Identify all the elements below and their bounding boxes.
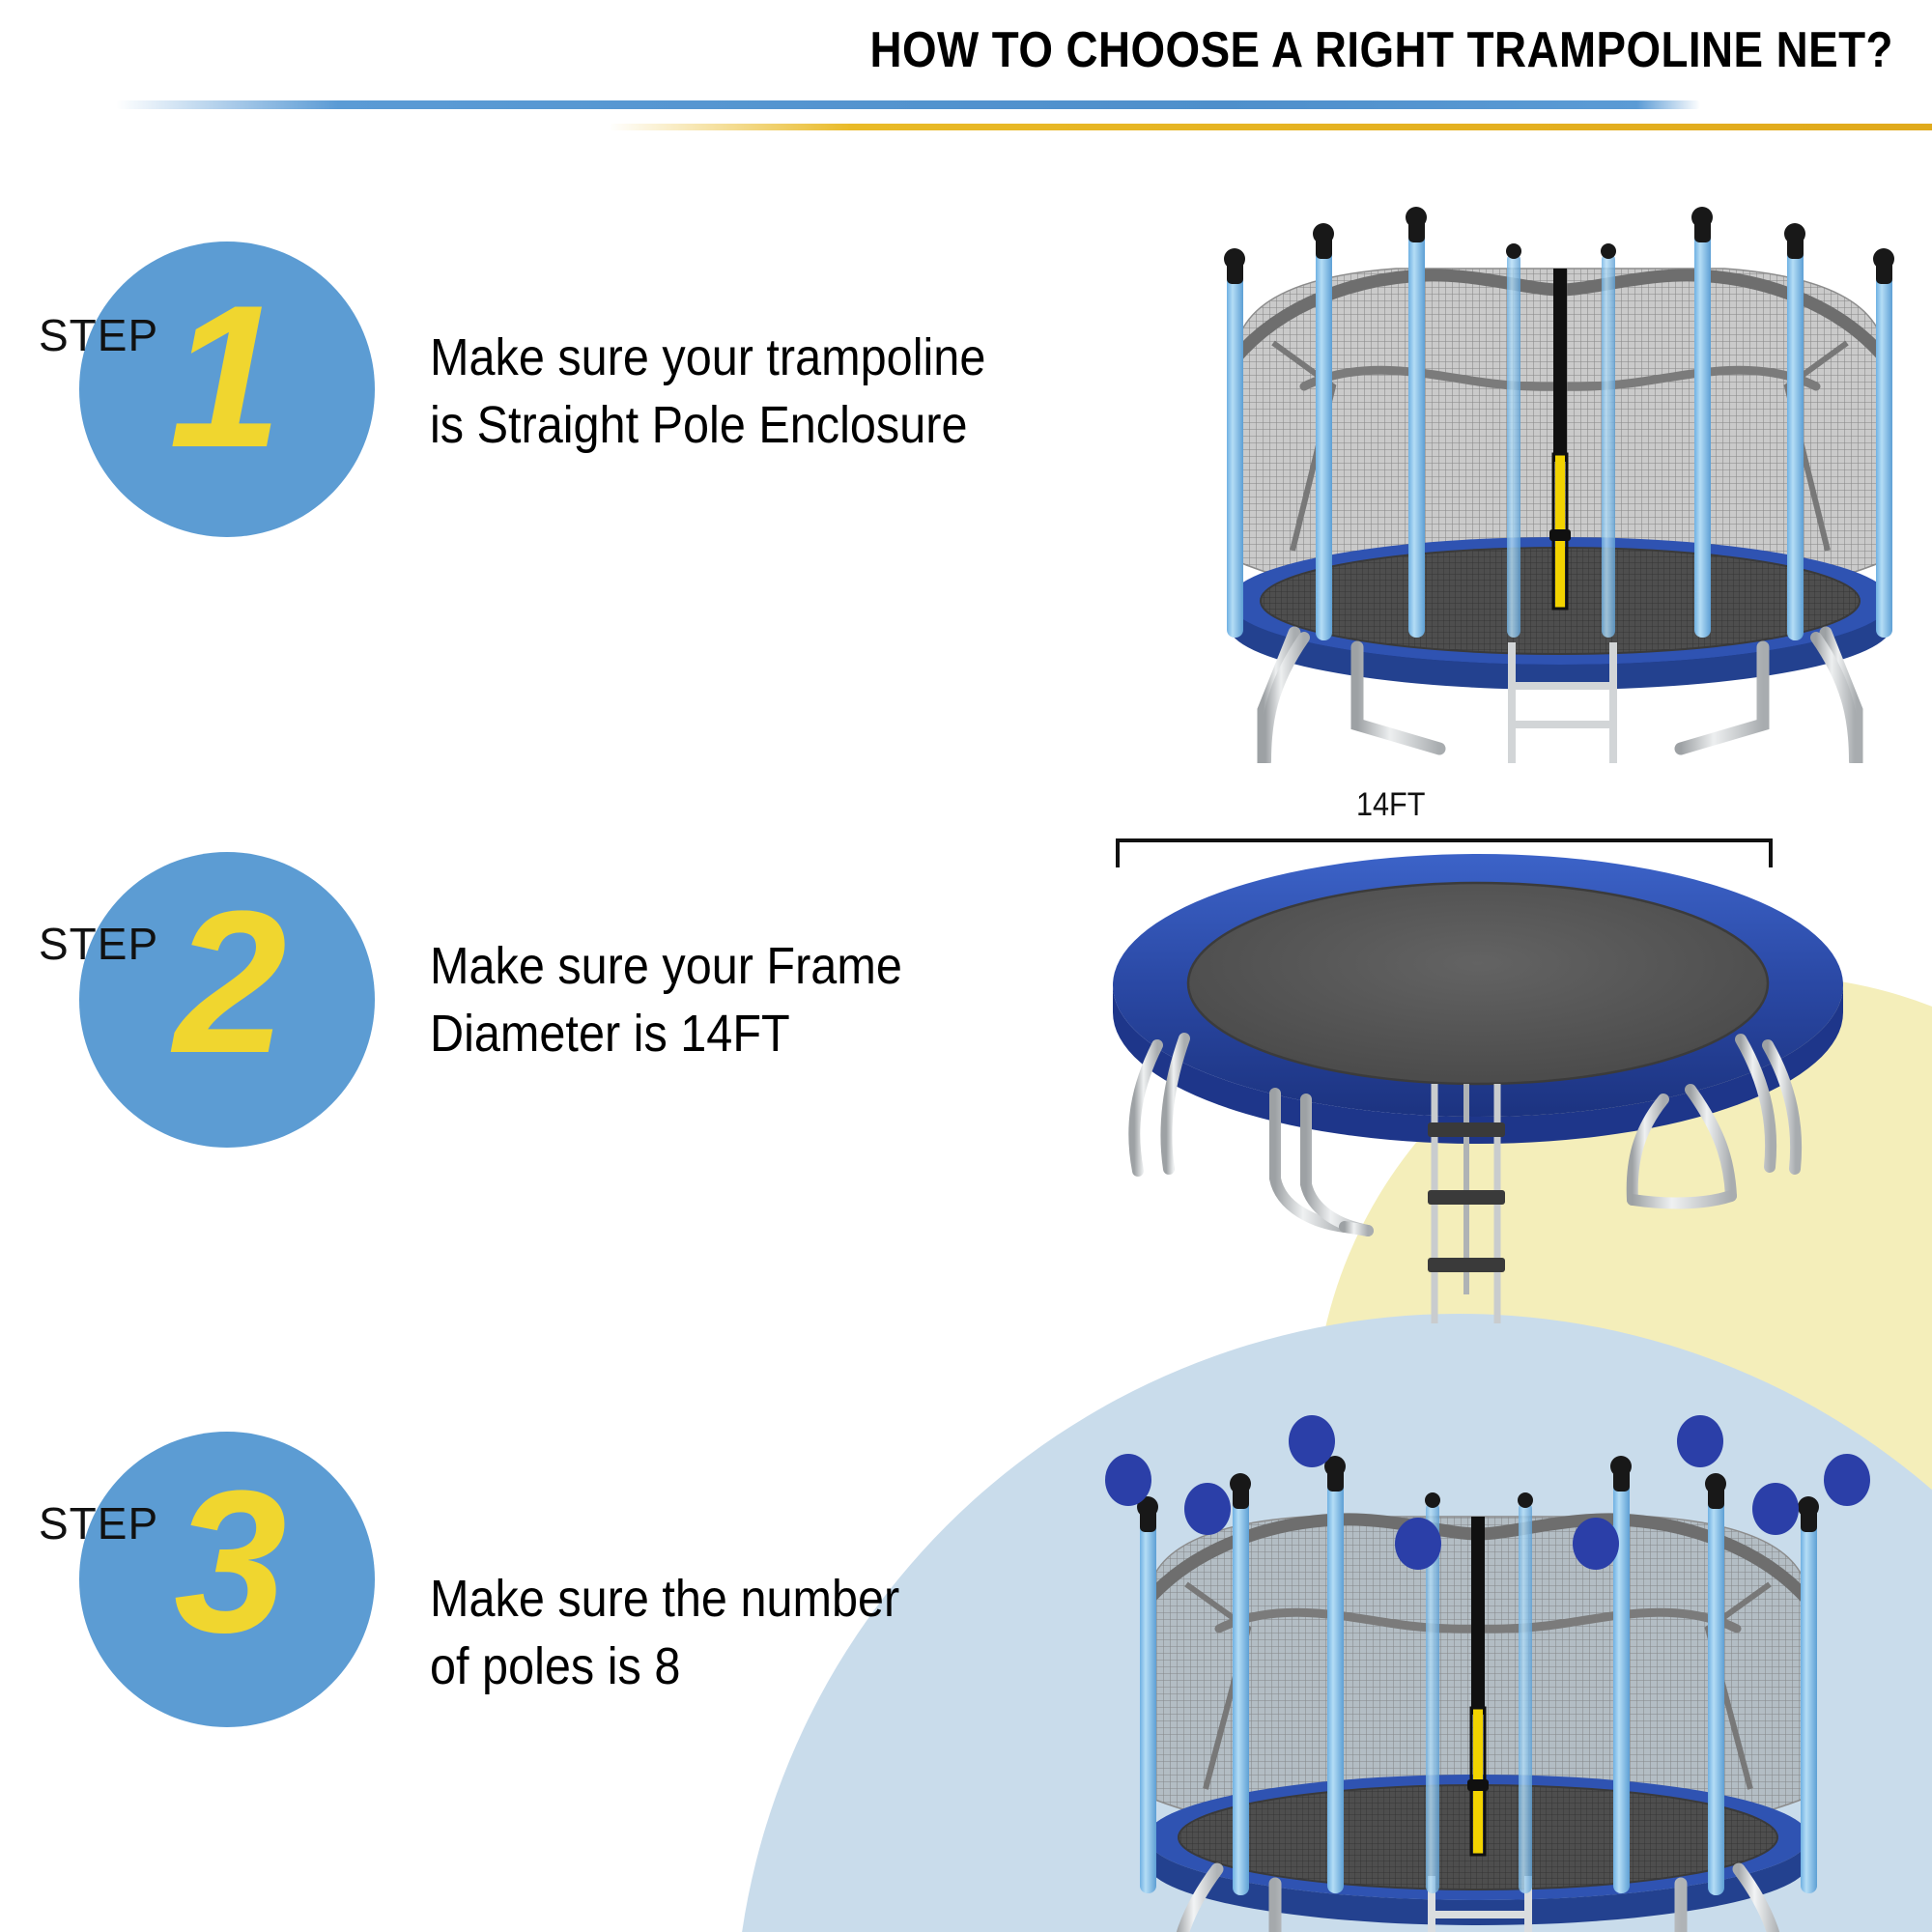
step-word-1: STEP (39, 309, 158, 361)
divider-blue (116, 100, 1700, 109)
trampoline-illustration-2 (1092, 840, 1864, 1343)
step-section-2: 2 STEP Make sure your Frame Diameter is … (0, 811, 1932, 1352)
step-section-1: 1 STEP Make sure your trampoline is Stra… (0, 193, 1932, 792)
divider-yellow (609, 124, 1932, 130)
step-word-3: STEP (39, 1497, 158, 1549)
step-number-1: 1 (169, 275, 282, 478)
step-text-1: Make sure your trampoline is Straight Po… (430, 324, 1125, 459)
step-text-2: Make sure your Frame Diameter is 14FT (430, 932, 1091, 1067)
trampoline-illustration-3 (1082, 1362, 1874, 1932)
dimension-label-14ft: 14FT (1356, 786, 1425, 824)
trampoline-illustration-1 (1188, 145, 1932, 763)
step-number-3: 3 (174, 1461, 287, 1663)
infographic-canvas: HOW TO CHOOSE A RIGHT TRAMPOLINE NET? 1 … (0, 0, 1932, 1932)
step-text-3: Make sure the number of poles is 8 (430, 1565, 1091, 1700)
step-section-3: 3 STEP Make sure the number of poles is … (0, 1372, 1932, 1932)
page-title: HOW TO CHOOSE A RIGHT TRAMPOLINE NET? (870, 21, 1893, 79)
step-number-2: 2 (174, 881, 287, 1084)
header: HOW TO CHOOSE A RIGHT TRAMPOLINE NET? (0, 0, 1932, 135)
step-word-2: STEP (39, 918, 158, 970)
